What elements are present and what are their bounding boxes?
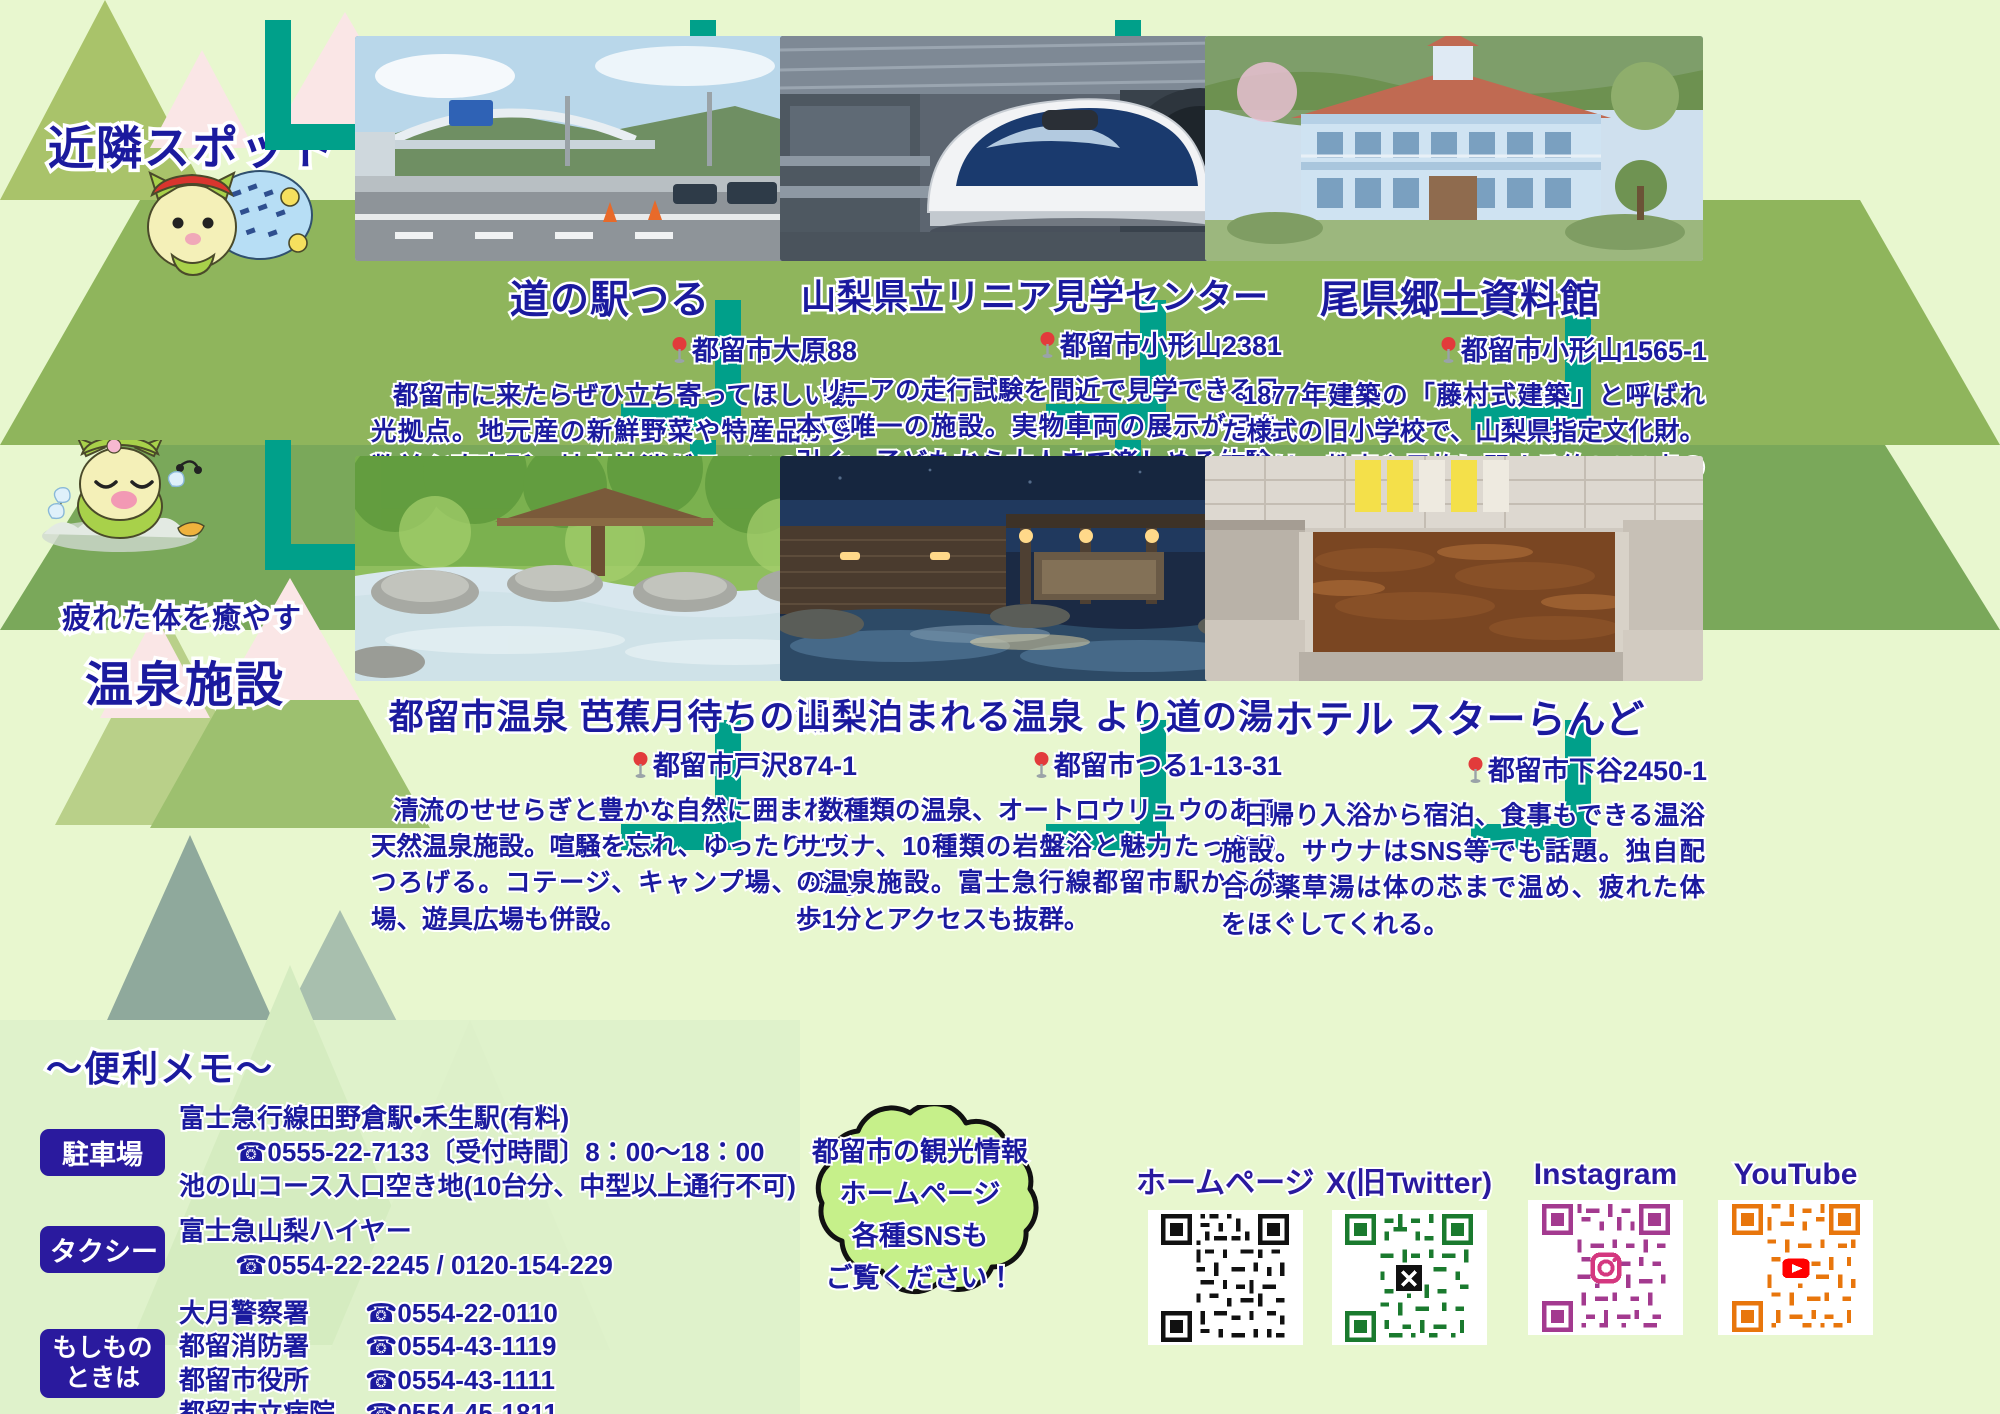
spot-address: 都留市下谷2450-1	[1205, 749, 1715, 788]
sns-callout-line2: ホームページ	[840, 1172, 1001, 1211]
spot-title: ホテル スターらんど	[1205, 689, 1715, 745]
qr-box-instagram[interactable]	[1528, 1200, 1683, 1335]
location-pin-icon	[1039, 332, 1056, 365]
spot-photo-michinoeki-tsuru	[355, 36, 853, 261]
convenience-memo: 〜便利メモ〜 駐車場 富士急行線田野倉駅・禾生駅(有料) ☎0555-22-71…	[40, 1040, 780, 1414]
memo-parking-lines: 富士急行線田野倉駅・禾生駅(有料) ☎0555-22-7133〔受付時間〕8：0…	[179, 1102, 796, 1203]
mascot-tsurumaru-fan-icon	[140, 165, 315, 295]
emergency-tel: ☎0554-22-0110	[335, 1297, 558, 1330]
sns-x-twitter[interactable]: X(旧Twitter)	[1326, 1158, 1492, 1345]
sns-label-x-twitter: X(旧Twitter)	[1326, 1158, 1492, 1202]
sns-label-instagram: Instagram	[1528, 1158, 1683, 1192]
brochure-page: 近隣スポット 疲れた体を癒やす 温泉施設	[0, 0, 2000, 1414]
spot-address-text: 都留市小形山1565-1	[1461, 336, 1707, 366]
spot-photo-yorimichi-no-yu	[780, 456, 1278, 681]
qr-box-homepage[interactable]	[1148, 1210, 1303, 1345]
memo-parking-line2: ☎0555-22-7133〔受付時間〕8：00〜18：00	[179, 1136, 796, 1170]
emergency-contacts-table: 大月警察署 ☎0554-22-0110 都留消防署 ☎0554-43-1119 …	[179, 1297, 558, 1414]
emergency-tel: ☎0554-45-1811	[335, 1397, 558, 1414]
memo-row-emergency: もしもの ときは 大月警察署 ☎0554-22-0110 都留消防署 ☎0554…	[40, 1297, 780, 1414]
spot-address: 都留市小形山1565-1	[1205, 329, 1715, 368]
table-row: 都留消防署 ☎0554-43-1119	[179, 1330, 558, 1363]
spot-photo-kyodo-shiryokan	[1205, 36, 1703, 261]
mascot-tsurumaru-onsen-icon	[40, 440, 225, 560]
spot-address-text: 都留市下谷2450-1	[1488, 756, 1707, 786]
memo-badge-emergency-line1: もしもの	[48, 1334, 157, 1364]
location-pin-icon	[632, 752, 649, 785]
memo-row-parking: 駐車場 富士急行線田野倉駅・禾生駅(有料) ☎0555-22-7133〔受付時間…	[40, 1102, 780, 1203]
memo-row-taxi: タクシー 富士急山梨ハイヤー ☎0554-22-2245 / 0120-154-…	[40, 1215, 780, 1283]
emergency-name: 大月警察署	[179, 1297, 335, 1330]
sns-instagram[interactable]: Instagram	[1528, 1158, 1683, 1335]
memo-taxi-line2: ☎0554-22-2245 / 0120-154-229	[179, 1249, 613, 1283]
sns-callout-line1: 都留市の観光情報	[812, 1130, 1028, 1169]
qr-code-homepage-icon[interactable]	[1161, 1214, 1289, 1342]
sns-callout-text: 都留市の観光情報 ホームページ 各種SNSも ご覧ください！	[770, 1105, 1070, 1320]
memo-title: 〜便利メモ〜	[46, 1040, 780, 1092]
emergency-name: 都留市立病院	[179, 1397, 335, 1414]
sns-callout-line3: 各種SNSも	[852, 1214, 989, 1253]
memo-taxi-line1: 富士急山梨ハイヤー	[179, 1215, 613, 1249]
table-row: 都留市立病院 ☎0554-45-1811	[179, 1397, 558, 1414]
emergency-tel: ☎0554-43-1111	[335, 1364, 558, 1397]
memo-taxi-lines: 富士急山梨ハイヤー ☎0554-22-2245 / 0120-154-229	[179, 1215, 613, 1283]
sns-callout-bubble: 都留市の観光情報 ホームページ 各種SNSも ご覧ください！	[770, 1105, 1070, 1320]
memo-badge-taxi: タクシー	[40, 1226, 165, 1273]
memo-parking-line1: 富士急行線田野倉駅・禾生駅(有料)	[179, 1102, 796, 1136]
location-pin-icon	[671, 337, 688, 370]
spot-photo-linear-center	[780, 36, 1278, 261]
spot-photo-basho-tsukimachi	[355, 456, 853, 681]
table-row: 大月警察署 ☎0554-22-0110	[179, 1297, 558, 1330]
spot-title: 尾県郷土資料館	[1205, 269, 1715, 325]
table-row: 都留市役所 ☎0554-43-1111	[179, 1364, 558, 1397]
spot-card-hotel-starland[interactable]: ホテル スターらんど 都留市下谷2450-1 日帰り入浴から宿泊、食事もできる温…	[1205, 456, 1715, 943]
sns-label-youtube: YouTube	[1718, 1158, 1873, 1192]
memo-badge-emergency-line2: ときは	[48, 1364, 157, 1394]
spot-photo-hotel-starland	[1205, 456, 1703, 681]
emergency-name: 都留市役所	[179, 1364, 335, 1397]
emergency-tel: ☎0554-43-1119	[335, 1330, 558, 1363]
memo-parking-line3: 池の山コース入口空き地(10台分、中型以上通行不可)	[179, 1170, 796, 1204]
sns-youtube[interactable]: YouTube	[1718, 1158, 1873, 1335]
memo-badge-parking: 駐車場	[40, 1129, 165, 1176]
qr-code-x-twitter-icon[interactable]	[1345, 1214, 1473, 1342]
location-pin-icon	[1033, 752, 1050, 785]
qr-box-x-twitter[interactable]	[1332, 1210, 1487, 1345]
section-subtitle-onsen: 疲れた体を癒やす	[62, 595, 302, 637]
spot-card-kyodo-shiryokan[interactable]: 尾県郷土資料館 都留市小形山1565-1 1877年建築の「藤村式建築」と呼ばれ…	[1205, 36, 1715, 523]
qr-code-instagram-icon[interactable]	[1542, 1204, 1670, 1332]
sns-callout-line4: ご覧ください！	[826, 1256, 1015, 1295]
spot-description: 日帰り入浴から宿泊、食事もできる温浴施設。サウナはSNS等でも話題。独自配合の薬…	[1205, 798, 1715, 943]
qr-code-youtube-icon[interactable]	[1732, 1204, 1860, 1332]
location-pin-icon	[1467, 757, 1484, 790]
memo-badge-emergency: もしもの ときは	[40, 1329, 165, 1398]
qr-box-youtube[interactable]	[1718, 1200, 1873, 1335]
section-title-onsen: 温泉施設	[85, 645, 285, 715]
sns-label-homepage: ホームページ	[1136, 1158, 1315, 1202]
sns-homepage[interactable]: ホームページ	[1136, 1158, 1315, 1345]
emergency-name: 都留消防署	[179, 1330, 335, 1363]
location-pin-icon	[1440, 337, 1457, 370]
